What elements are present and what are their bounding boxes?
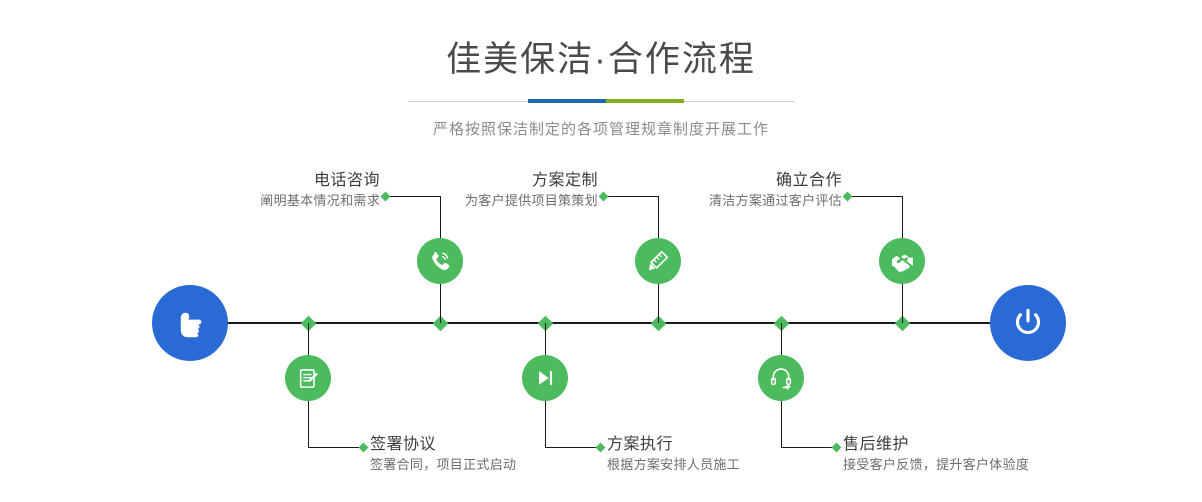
step-icon-badge-3[interactable] xyxy=(635,238,681,284)
step-icon-badge-2[interactable] xyxy=(285,355,331,401)
step-desc: 阐明基本情况和需求 xyxy=(175,191,380,211)
header: 佳美保洁·合作流程 严格按照保洁制定的各项管理规章制度开展工作 xyxy=(0,0,1202,139)
step-label-2: 签署协议 签署合同，项目正式启动 xyxy=(370,435,516,475)
step-icon-badge-5[interactable] xyxy=(879,238,925,284)
flow-start-endpoint xyxy=(152,285,228,361)
step-icon-badge-6[interactable] xyxy=(758,355,804,401)
play-next-icon xyxy=(533,366,557,390)
page-title: 佳美保洁·合作流程 xyxy=(0,42,1202,77)
power-icon xyxy=(1007,302,1049,344)
branch-tip-diamond xyxy=(832,443,842,453)
branch-horizontal-line xyxy=(847,196,902,197)
branch-tip-diamond xyxy=(381,192,391,202)
headset-add-icon xyxy=(768,365,794,391)
branch-horizontal-line xyxy=(308,447,363,448)
process-flow-infographic: 佳美保洁·合作流程 严格按照保洁制定的各项管理规章制度开展工作 xyxy=(0,0,1202,502)
step-label-4: 方案执行 根据方案安排人员施工 xyxy=(607,435,740,475)
branch-horizontal-line xyxy=(781,447,836,448)
branch-tip-diamond xyxy=(843,192,853,202)
step-desc: 清洁方案通过客户评估 xyxy=(637,191,842,211)
step-title: 确立合作 xyxy=(637,171,842,191)
flow-end-endpoint xyxy=(990,285,1066,361)
phone-call-icon xyxy=(427,248,453,274)
step-label-3: 方案定制 为客户提供项目策策划 xyxy=(393,171,598,211)
step-title: 方案执行 xyxy=(607,435,740,455)
step-label-5: 确立合作 清洁方案通过客户评估 xyxy=(637,171,842,211)
branch-horizontal-line xyxy=(545,447,600,448)
step-title: 签署协议 xyxy=(370,435,516,455)
branch-tip-diamond xyxy=(599,192,609,202)
branch-tip-diamond xyxy=(359,443,369,453)
step-desc: 为客户提供项目策策划 xyxy=(393,191,598,211)
step-label-6: 售后维护 接受客户反馈，提升客户体验度 xyxy=(843,435,1029,475)
handshake-icon xyxy=(889,248,916,275)
document-pencil-icon xyxy=(296,366,321,391)
step-label-1: 电话咨询 阐明基本情况和需求 xyxy=(175,171,380,211)
divider-blue-segment xyxy=(528,99,606,103)
divider-green-segment xyxy=(606,99,684,103)
step-desc: 签署合同，项目正式启动 xyxy=(370,455,516,475)
branch-tip-diamond xyxy=(596,443,606,453)
step-icon-badge-1[interactable] xyxy=(417,238,463,284)
title-divider xyxy=(408,97,794,107)
pointing-hand-icon xyxy=(169,302,211,344)
step-title: 电话咨询 xyxy=(175,171,380,191)
step-title: 方案定制 xyxy=(393,171,598,191)
step-desc: 接受客户反馈，提升客户体验度 xyxy=(843,455,1029,475)
page-subtitle: 严格按照保洁制定的各项管理规章制度开展工作 xyxy=(0,118,1202,139)
step-desc: 根据方案安排人员施工 xyxy=(607,455,740,475)
step-title: 售后维护 xyxy=(843,435,1029,455)
pencil-ruler-icon xyxy=(645,248,671,274)
step-icon-badge-4[interactable] xyxy=(522,355,568,401)
